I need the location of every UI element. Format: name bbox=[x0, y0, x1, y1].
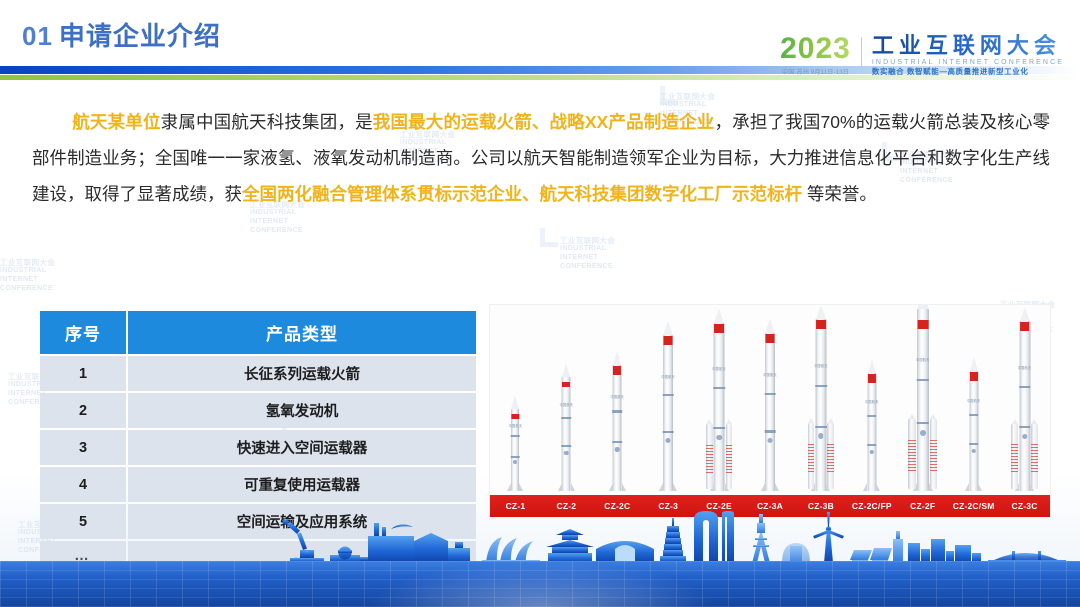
rocket-label: CZ-2C/SM bbox=[948, 501, 999, 511]
rocket-label: CZ-3 bbox=[643, 501, 694, 511]
logo-divider bbox=[861, 37, 862, 73]
rocket-fin bbox=[863, 483, 867, 491]
highlight-text: 全国两化融合管理体系贯标示范企业、航天科技集团数字化工厂示范标杆 bbox=[242, 184, 802, 204]
rocket-interstage-band bbox=[562, 445, 572, 447]
rocket-fin bbox=[761, 483, 765, 491]
table-cell-product: 可重复使用运载器 bbox=[128, 467, 476, 502]
table-cell-product: 长征系列运载火箭 bbox=[128, 356, 476, 391]
rocket-label: CZ-2F bbox=[897, 501, 948, 511]
rocket-booster bbox=[808, 422, 815, 489]
rocket-marking-text: 中国航天 bbox=[967, 398, 981, 403]
rocket-body bbox=[714, 323, 725, 491]
company-intro-paragraph: 航天某单位隶属中国航天科技集团，是我国最大的运载火箭、战略XX产品制造企业，承担… bbox=[32, 104, 1050, 212]
rocket-interstage-band bbox=[867, 444, 877, 446]
page-title: 01申请企业介绍 bbox=[22, 16, 221, 53]
rocket-body bbox=[765, 333, 775, 491]
rocket-body bbox=[511, 409, 519, 491]
rocket-booster bbox=[930, 418, 937, 489]
table-col-index: 序号 bbox=[40, 311, 126, 354]
rocket-cz-2c-sm: 中国航天 bbox=[948, 357, 999, 491]
rocket-interstage-band bbox=[612, 441, 622, 443]
rocket-agency-emblem bbox=[564, 451, 569, 456]
section-title: 申请企业介绍 bbox=[59, 21, 221, 51]
rocket-fairing-marking bbox=[512, 414, 519, 419]
rocket-body bbox=[867, 373, 876, 491]
rocket-interstage-band bbox=[815, 385, 827, 387]
rocket-agency-emblem bbox=[870, 450, 875, 455]
rocket-nose-cone bbox=[714, 309, 724, 323]
rocket-interstage-band bbox=[663, 394, 674, 396]
rocket-nose-cone bbox=[765, 319, 775, 333]
table-row: 2氢氧发动机 bbox=[40, 393, 476, 428]
rocket-fairing-marking bbox=[714, 324, 724, 333]
rocket-agency-emblem bbox=[920, 430, 926, 436]
table-cell-product: 快速进入空间运载器 bbox=[128, 430, 476, 465]
rocket-fairing-marking bbox=[816, 320, 826, 329]
rocket-fairing-marking bbox=[765, 334, 774, 343]
logo-name-en: INDUSTRIAL INTERNET CONFERENCE bbox=[872, 59, 1064, 66]
rocket-interstage-band bbox=[713, 427, 725, 429]
table-row: 3快速进入空间运载器 bbox=[40, 430, 476, 465]
rocket-fin bbox=[659, 483, 663, 491]
rocket-interstage-band bbox=[916, 379, 929, 381]
rocket-nose-cone bbox=[613, 351, 621, 365]
rocket-illustrations: 中国航天中国航天中国航天中国航天中国航天中国航天中国航天中国航天中国航天中国航天… bbox=[490, 305, 1050, 495]
rocket-agency-emblem bbox=[818, 433, 824, 439]
rocket-nose-cone bbox=[816, 305, 826, 319]
rocket-fin bbox=[965, 483, 969, 491]
rocket-marking-text: 中国航天 bbox=[763, 372, 777, 377]
rocket-body bbox=[815, 319, 826, 491]
logo-year: 2023 bbox=[780, 34, 851, 64]
rocket-fin bbox=[571, 483, 575, 491]
rocket-booster bbox=[1031, 423, 1038, 489]
rocket-nose-cone bbox=[511, 395, 519, 409]
rocket-nose-cone bbox=[562, 363, 570, 377]
rocket-body bbox=[1019, 321, 1030, 491]
rocket-interstage-band bbox=[1019, 386, 1031, 388]
logo-name-block: 工业互联网大会 INDUSTRIAL INTERNET CONFERENCE 数… bbox=[872, 34, 1064, 76]
rocket-body bbox=[917, 309, 929, 491]
logo-name-cn: 工业互联网大会 bbox=[872, 34, 1064, 57]
rocket-interstage-band bbox=[562, 417, 572, 419]
rocket-booster bbox=[1011, 423, 1018, 489]
body-text: 隶属中国航天科技集团，是 bbox=[161, 112, 373, 132]
table-row: 1长征系列运载火箭 bbox=[40, 356, 476, 391]
rocket-agency-emblem bbox=[767, 438, 772, 443]
table-cell-index: 3 bbox=[40, 430, 126, 465]
rocket-agency-emblem bbox=[716, 435, 722, 441]
rocket-fin bbox=[507, 483, 511, 491]
rocket-marking-text: 中国航天 bbox=[865, 399, 879, 404]
rocket-label: CZ-3A bbox=[745, 501, 796, 511]
rocket-fairing-marking bbox=[917, 320, 928, 329]
rocket-fairing-marking bbox=[613, 366, 621, 375]
rocket-agency-emblem bbox=[971, 449, 976, 454]
rocket-label: CZ-2E bbox=[694, 501, 745, 511]
rocket-marking-text: 中国航天 bbox=[560, 402, 574, 407]
rocket-fairing-marking bbox=[1020, 322, 1030, 331]
rocket-fin bbox=[622, 483, 626, 491]
rocket-cz-3: 中国航天 bbox=[643, 321, 694, 491]
rocket-interstage-band bbox=[612, 410, 622, 412]
table-header-row: 序号 产品类型 bbox=[40, 311, 476, 354]
table-row: 4可重复使用运载器 bbox=[40, 467, 476, 502]
rocket-agency-emblem bbox=[513, 460, 517, 464]
rocket-agency-emblem bbox=[666, 438, 671, 443]
rocket-booster bbox=[706, 423, 713, 489]
rocket-fairing-marking bbox=[562, 382, 570, 387]
rocket-interstage-band bbox=[1019, 426, 1031, 428]
table-cell-product: 氢氧发动机 bbox=[128, 393, 476, 428]
rocket-marking-text: 中国航天 bbox=[712, 366, 726, 371]
rocket-marking-text: 中国航天 bbox=[509, 423, 523, 428]
rocket-booster bbox=[726, 423, 733, 489]
highlight-text: 我国最大的运载火箭、战略XX产品制造企业 bbox=[373, 112, 715, 132]
rocket-fin bbox=[876, 483, 880, 491]
table-cell-index: 2 bbox=[40, 393, 126, 428]
rocket-marking-text: 中国航天 bbox=[916, 357, 930, 362]
highlight-text: 航天某单位 bbox=[72, 112, 160, 132]
rocket-label: CZ-3C bbox=[999, 501, 1050, 511]
rocket-interstage-band bbox=[969, 414, 979, 416]
rocket-nose-cone bbox=[917, 305, 929, 309]
grid-glow bbox=[367, 561, 713, 607]
rocket-fin bbox=[609, 483, 613, 491]
rocket-body bbox=[613, 365, 622, 491]
rocket-cz-2c-fp: 中国航天 bbox=[846, 359, 897, 491]
watermark-glyph bbox=[540, 228, 570, 252]
watermark-text: 工业互联网大会INDUSTRIAL INTERNET CONFERENCE bbox=[560, 236, 615, 272]
rocket-cz-2: 中国航天 bbox=[541, 363, 592, 491]
table-cell-index: 4 bbox=[40, 467, 126, 502]
rocket-cz-2e: 中国航天 bbox=[694, 309, 745, 491]
rocket-family-figure: 中国航天中国航天中国航天中国航天中国航天中国航天中国航天中国航天中国航天中国航天… bbox=[490, 305, 1050, 517]
rocket-fairing-marking bbox=[664, 336, 673, 345]
rocket-booster bbox=[908, 418, 915, 489]
rocket-label: CZ-3B bbox=[795, 501, 846, 511]
rocket-body bbox=[562, 377, 571, 491]
rocket-label: CZ-2 bbox=[541, 501, 592, 511]
rocket-fin bbox=[519, 483, 523, 491]
section-number: 01 bbox=[22, 21, 53, 51]
rocket-fin bbox=[978, 483, 982, 491]
bottom-decoration bbox=[0, 545, 1080, 607]
rocket-interstage-band bbox=[663, 431, 674, 433]
table-cell-index: 1 bbox=[40, 356, 126, 391]
rocket-label: CZ-2C/FP bbox=[846, 501, 897, 511]
rocket-marking-text: 中国航天 bbox=[661, 374, 675, 379]
rocket-nose-cone bbox=[970, 357, 978, 371]
rocket-booster bbox=[827, 422, 834, 489]
rocket-nose-cone bbox=[868, 359, 876, 373]
rocket-interstage-band bbox=[713, 387, 725, 389]
rocket-marking-text: 中国航天 bbox=[610, 394, 624, 399]
rocket-cz-3c: 中国航天 bbox=[999, 307, 1050, 491]
rocket-label: CZ-1 bbox=[490, 501, 541, 511]
rocket-nose-cone bbox=[663, 321, 673, 335]
rocket-cz-2f: 中国航天 bbox=[897, 305, 948, 491]
rocket-interstage-band bbox=[511, 456, 520, 458]
rocket-interstage-band bbox=[511, 435, 520, 437]
rocket-agency-emblem bbox=[1022, 434, 1028, 440]
rocket-fin bbox=[673, 483, 677, 491]
rocket-cz-1: 中国航天 bbox=[490, 395, 541, 491]
rocket-cz-3b: 中国航天 bbox=[795, 305, 846, 491]
slide-root: 工业互联网大会INDUSTRIAL INTERNET CONFERENCE 工业… bbox=[0, 0, 1080, 607]
table-col-product: 产品类型 bbox=[128, 311, 476, 354]
rocket-body bbox=[969, 371, 978, 491]
logo-slogan: 数实融合 数智赋能—高质量推进新型工业化 bbox=[872, 68, 1064, 76]
conference-logo: 2023 中国·苏州 9月11日-13日 工业互联网大会 INDUSTRIAL … bbox=[780, 34, 1064, 76]
rocket-interstage-band bbox=[815, 426, 827, 428]
body-text: 等荣誉。 bbox=[802, 184, 877, 204]
rocket-marking-text: 中国航天 bbox=[814, 363, 828, 368]
rocket-cz-2c: 中国航天 bbox=[592, 351, 643, 491]
rocket-agency-emblem bbox=[615, 447, 620, 452]
rocket-interstage-band bbox=[765, 430, 776, 432]
rocket-cz-3a: 中国航天 bbox=[745, 319, 796, 491]
rocket-interstage-band bbox=[916, 422, 929, 424]
logo-date: 中国·苏州 9月11日-13日 bbox=[780, 67, 851, 76]
rocket-body bbox=[663, 335, 673, 491]
city-skyline-icon bbox=[0, 511, 1080, 563]
rocket-interstage-band bbox=[867, 415, 877, 417]
rocket-label: CZ-2C bbox=[592, 501, 643, 511]
rocket-fin bbox=[775, 483, 779, 491]
rocket-interstage-band bbox=[969, 443, 979, 445]
rocket-fairing-marking bbox=[970, 372, 978, 381]
rocket-interstage-band bbox=[765, 393, 776, 395]
rocket-fin bbox=[558, 483, 562, 491]
watermark-text: 工业互联网大会INDUSTRIAL INTERNET CONFERENCE bbox=[0, 258, 55, 294]
rocket-marking-text: 中国航天 bbox=[1018, 365, 1032, 370]
logo-year-block: 2023 中国·苏州 9月11日-13日 bbox=[780, 34, 861, 76]
rocket-nose-cone bbox=[1020, 307, 1030, 321]
rocket-fairing-marking bbox=[868, 374, 876, 383]
